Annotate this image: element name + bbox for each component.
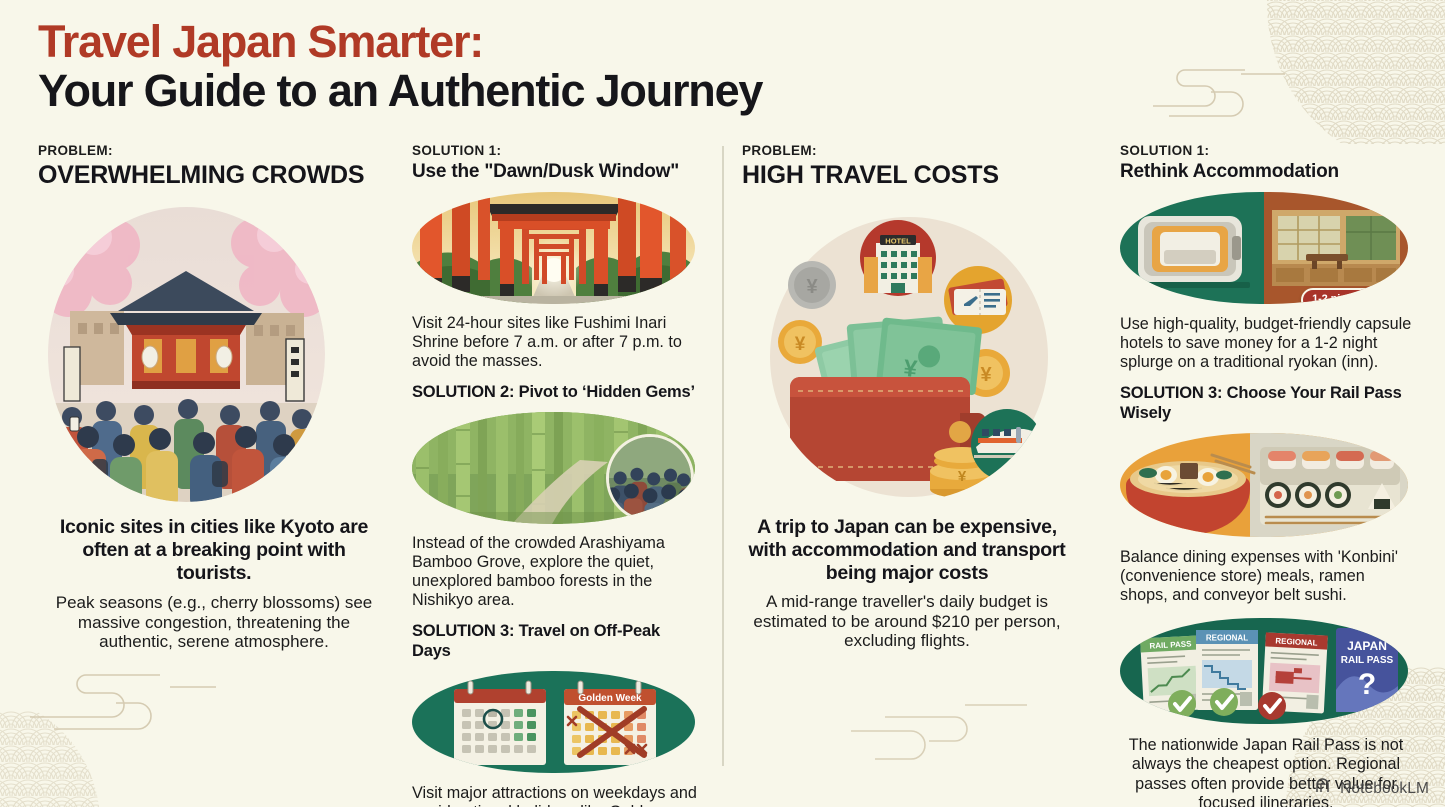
svg-text:¥: ¥	[958, 468, 967, 485]
section-problem-crowds: PROBLEM: OVERWHELMING CROWDS	[38, 143, 390, 652]
subhead-solution-2-costs: SOLUTION 3: Choose Your Rail Pass Wisely	[1120, 384, 1412, 424]
svg-text:JAPAN: JAPAN	[1347, 639, 1387, 653]
page-title-line-2: Your Guide to an Authentic Journey	[38, 66, 762, 116]
svg-text:¥: ¥	[795, 334, 806, 355]
caption-solution-1-costs: Use high-quality, budget-friendly capsul…	[1120, 315, 1412, 372]
cloud-motif-bottom-center	[845, 687, 1035, 767]
kicker-problem-costs: PROBLEM:	[742, 143, 1072, 160]
lead-problem-crowds: Iconic sites in cities like Kyoto are of…	[44, 516, 384, 584]
heading-solution-1-costs: Rethink Accommodation	[1120, 161, 1412, 183]
section-solutions-crowds: SOLUTION 1: Use the "Dawn/Dusk Window"	[412, 143, 700, 807]
caption-solution-2-crowds: Instead of the crowded Arashiyama Bamboo…	[412, 534, 700, 610]
svg-text:¥: ¥	[980, 364, 992, 386]
column-divider	[722, 146, 724, 766]
svg-text:?: ?	[1358, 668, 1376, 701]
crowd-inset-circle	[606, 434, 694, 522]
seigaiha-pattern-bottom-left	[0, 711, 110, 807]
crowded-temple-illustration	[48, 207, 325, 502]
footer-brand-label: NotebookLM	[1340, 780, 1429, 798]
lead-problem-costs: A trip to Japan can be expensive, with a…	[742, 516, 1072, 584]
footer-brand: NotebookLM	[1315, 778, 1429, 799]
svg-text:RAIL PASS: RAIL PASS	[1341, 655, 1394, 666]
kicker-solution-1-crowds: SOLUTION 1:	[412, 143, 700, 160]
cloud-motif-bottom-left	[20, 657, 220, 737]
caption-solution-3-crowds: Visit major attractions on weekdays and …	[412, 784, 700, 807]
kicker-problem-crowds: PROBLEM:	[38, 143, 390, 160]
bamboo-grove-illustration	[412, 412, 695, 524]
kicker-solution-1-costs: SOLUTION 1:	[1120, 143, 1412, 160]
capsule-ryokan-illustration: 1-2 night splurge	[1120, 192, 1408, 304]
svg-text:REGIONAL: REGIONAL	[1206, 633, 1248, 642]
infographic-page: Travel Japan Smarter: Your Guide to an A…	[0, 0, 1445, 807]
torii-gate-illustration	[412, 192, 695, 304]
section-problem-costs: PROBLEM: HIGH TRAVEL COSTS ¥ ¥	[742, 143, 1072, 651]
ramen-sushi-illustration	[1120, 433, 1408, 537]
heading-problem-crowds: OVERWHELMING CROWDS	[38, 161, 390, 189]
notebooklm-logo-icon	[1315, 778, 1333, 799]
caption-solution-2-costs: Balance dining expenses with 'Konbini' (…	[1120, 548, 1412, 605]
heading-problem-costs: HIGH TRAVEL COSTS	[742, 161, 1072, 189]
seigaiha-pattern-top-right	[1225, 0, 1445, 144]
caption-solution-1-crowds: Visit 24-hour sites like Fushimi Inari S…	[412, 314, 700, 371]
cloud-motif-top-right	[1145, 52, 1295, 122]
heading-solution-1-crowds: Use the "Dawn/Dusk Window"	[412, 161, 700, 183]
svg-text:Golden Week: Golden Week	[578, 693, 642, 704]
subhead-solution-3-crowds: SOLUTION 3: Travel on Off-Peak Days	[412, 622, 700, 662]
section-solutions-costs: SOLUTION 1: Rethink Accommodation	[1120, 143, 1412, 807]
splurge-badge: 1-2 night splurge	[1301, 288, 1408, 303]
body-problem-costs: A mid-range traveller's daily budget is …	[742, 592, 1072, 651]
page-title-line-1: Travel Japan Smarter:	[38, 18, 762, 66]
body-problem-crowds: Peak seasons (e.g., cherry blossoms) see…	[44, 593, 384, 652]
wallet-cost-illustration: ¥ ¥ ¥	[764, 205, 1054, 501]
svg-text:¥: ¥	[806, 276, 818, 298]
subhead-solution-2-crowds: SOLUTION 2: Pivot to ‘Hidden Gems’	[412, 383, 700, 403]
page-header: Travel Japan Smarter: Your Guide to an A…	[38, 18, 762, 116]
calendar-comparison-illustration: Golden Week	[412, 671, 695, 773]
svg-text:HOTEL: HOTEL	[885, 236, 911, 245]
rail-pass-comparison-illustration: RAIL PASS REGIONAL	[1120, 618, 1408, 724]
